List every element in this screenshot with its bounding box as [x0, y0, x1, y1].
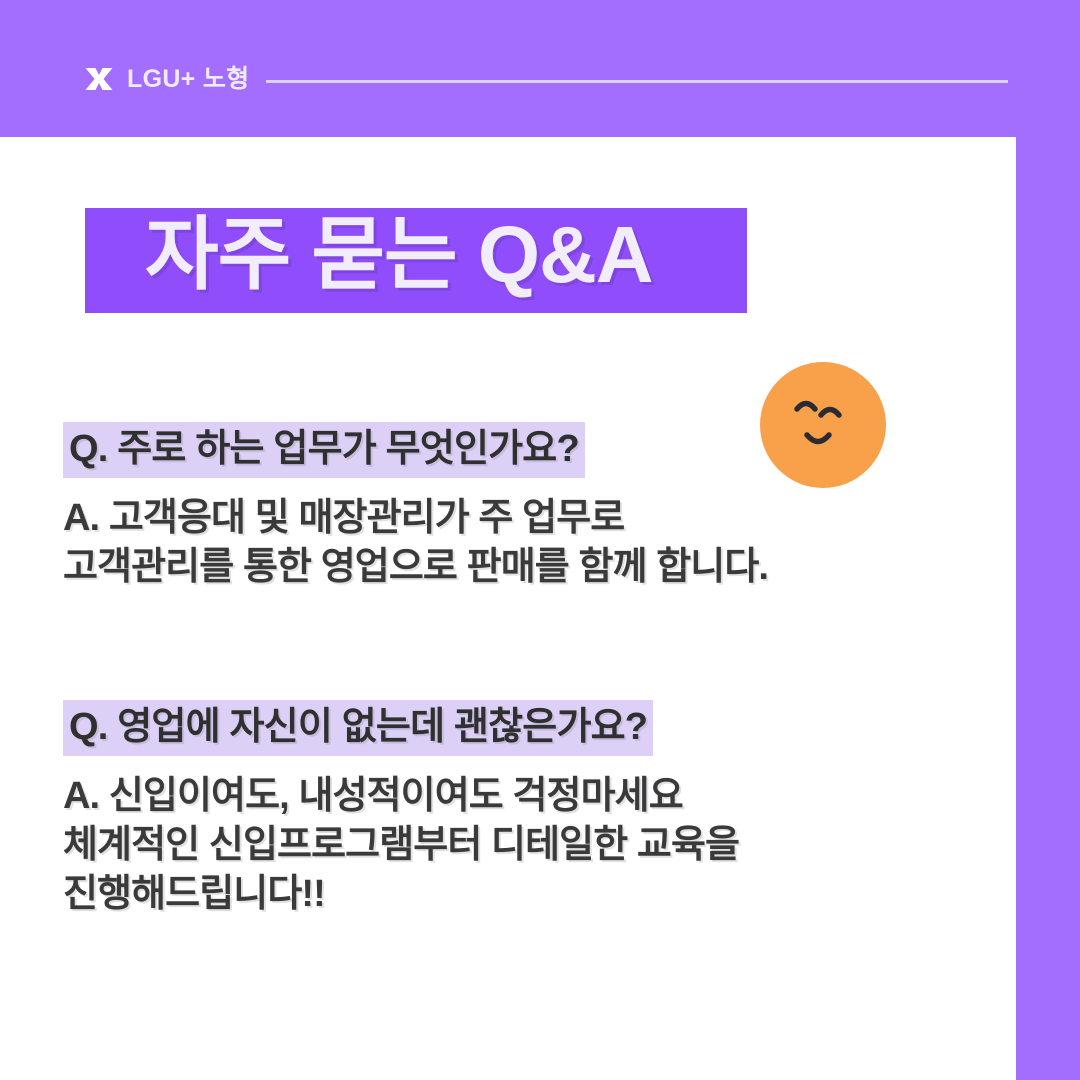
faq-answer: A. 신입이여도, 내성적이여도 걱정마세요 체계적인 신입프로그램부터 디테일… [63, 772, 739, 918]
page-title: 자주 묻는 Q&A [145, 202, 653, 307]
faq-answer-line: A. 고객응대 및 매장관리가 주 업무로 [63, 494, 768, 543]
faq-answer: A. 고객응대 및 매장관리가 주 업무로 고객관리를 통한 영업으로 판매를 … [63, 494, 768, 591]
faq-question: Q. 영업에 자신이 없는데 괜찮은가요? [63, 700, 653, 756]
faq-item: Q. 주로 하는 업무가 무엇인가요? A. 고객응대 및 매장관리가 주 업무… [63, 422, 768, 592]
faq-answer-line: A. 신입이여도, 내성적이여도 걱정마세요 [63, 772, 739, 821]
faq-answer-line: 체계적인 신입프로그램부터 디테일한 교육을 [63, 821, 739, 870]
header-divider [266, 80, 1008, 83]
lgu-x-mark-icon [84, 64, 114, 94]
page-title-banner: 자주 묻는 Q&A [85, 208, 747, 313]
brand-label: LGU+ 노형 [127, 67, 249, 92]
content-panel: 자주 묻는 Q&A Q. 주로 하는 업무가 무엇인가요? A. 고객응대 및 … [0, 137, 1016, 1080]
faq-card: LGU+ 노형 자주 묻는 Q&A Q. 주로 하는 업무가 무엇인가요? A.… [0, 0, 1080, 1080]
brand-lockup: LGU+ 노형 [84, 61, 249, 97]
header-band: LGU+ 노형 [0, 0, 1080, 137]
faq-item: Q. 영업에 자신이 없는데 괜찮은가요? A. 신입이여도, 내성적이여도 걱… [63, 700, 739, 918]
faq-answer-line: 진행해드립니다!! [63, 870, 739, 919]
faq-answer-line: 고객관리를 통한 영업으로 판매를 함께 합니다. [63, 543, 768, 592]
faq-question: Q. 주로 하는 업무가 무엇인가요? [63, 422, 585, 478]
smiling-face-icon [760, 362, 886, 488]
